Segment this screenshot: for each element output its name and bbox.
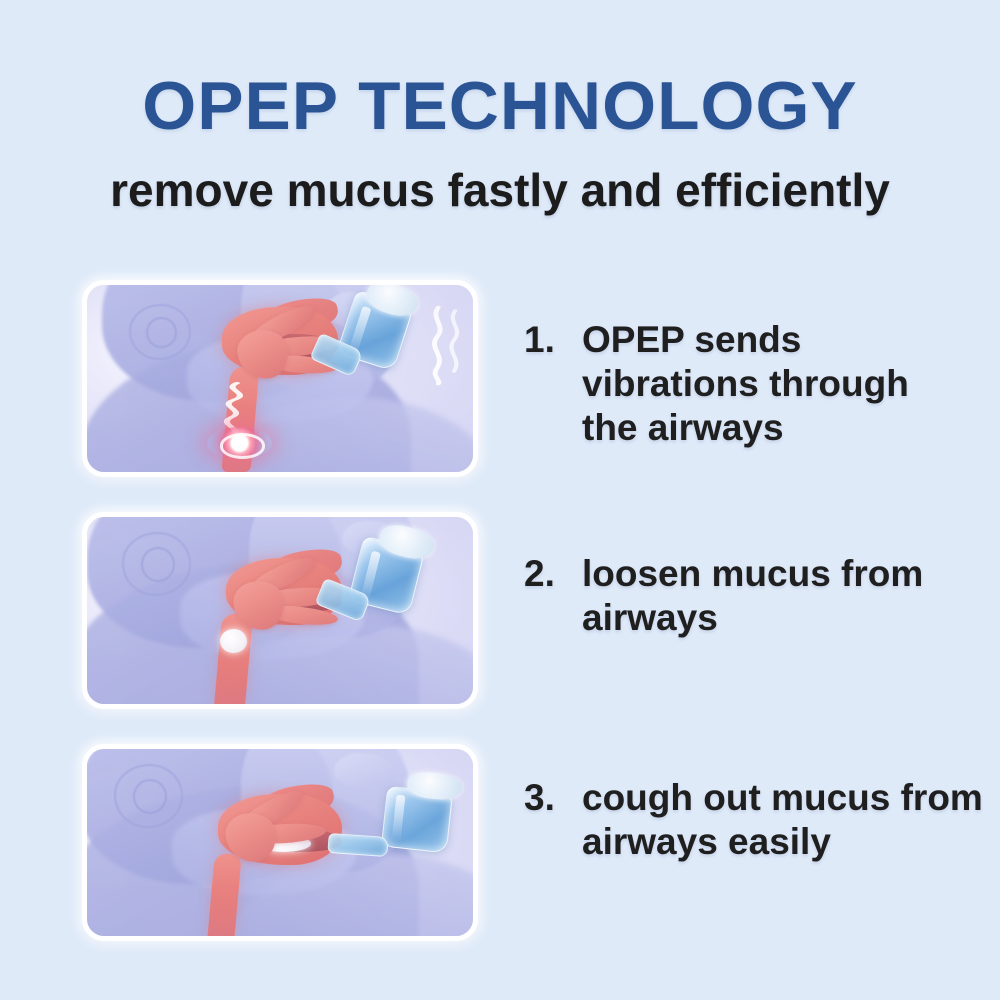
step-1-number: 1. [524,318,568,362]
panel-vignette [87,749,473,936]
step-3-label: cough out mucus from airways easily [582,776,984,864]
panel-vignette [87,517,473,704]
step-1-illustration [82,280,478,477]
steps-list: 1. OPEP sends vibrations through the air… [0,272,1000,972]
step-2-illustration [82,512,478,709]
step-3-number: 3. [524,776,568,820]
step-row-1: 1. OPEP sends vibrations through the air… [0,272,1000,487]
step-2-label: loosen mucus from airways [582,552,970,640]
step-1-text: 1. OPEP sends vibrations through the air… [524,318,970,450]
step-2-text: 2. loosen mucus from airways [524,552,970,640]
page-subtitle: remove mucus fastly and efficiently [0,165,1000,215]
step-row-2: 2. loosen mucus from airways [0,504,1000,719]
anatomy-scene-2 [87,517,473,704]
step-row-3: 3. cough out mucus from airways easily [0,736,1000,951]
anatomy-scene-1 [87,285,473,472]
panel-vignette [87,285,473,472]
anatomy-scene-3 [87,749,473,936]
step-3-text: 3. cough out mucus from airways easily [524,776,984,864]
header: OPEP TECHNOLOGY remove mucus fastly and … [0,0,1000,250]
page-title: OPEP TECHNOLOGY [0,72,1000,140]
step-3-illustration [82,744,478,941]
step-1-label: OPEP sends vibrations through the airway… [582,318,970,450]
step-2-number: 2. [524,552,568,596]
